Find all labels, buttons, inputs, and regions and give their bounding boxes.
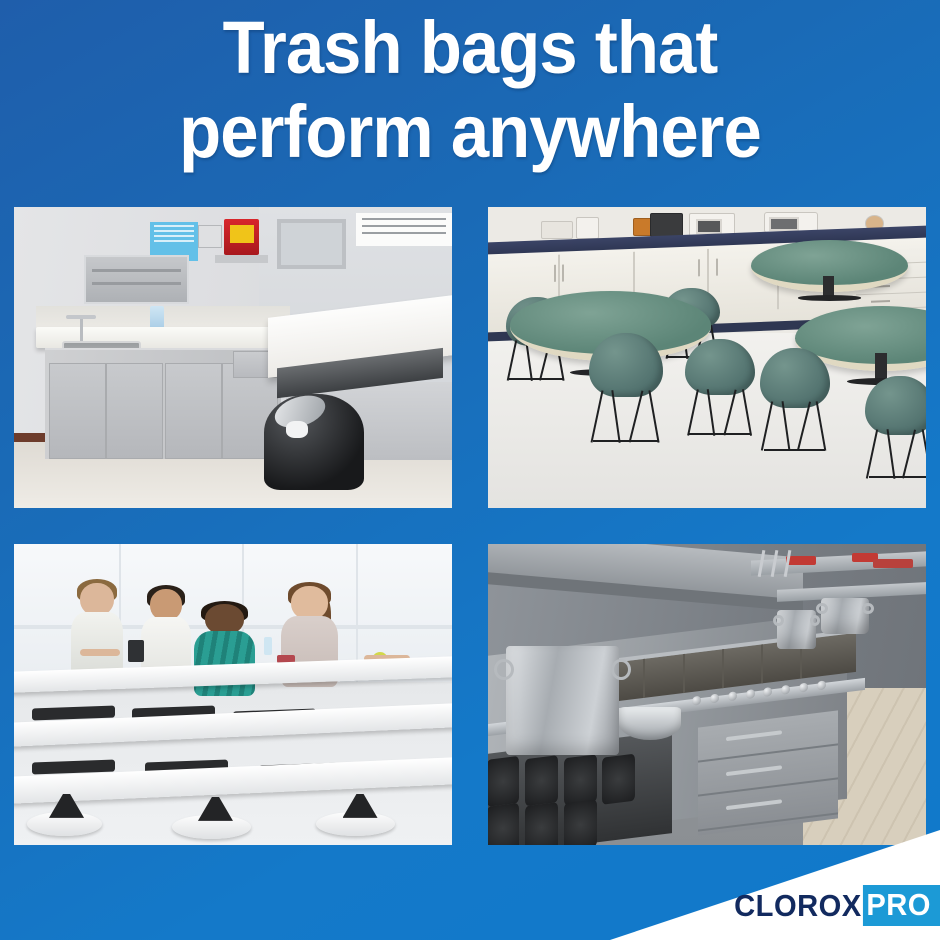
- trash-bag: [286, 421, 308, 438]
- chair-back: [865, 376, 926, 436]
- supply-box: [786, 556, 817, 565]
- chair: [685, 339, 755, 429]
- break-room-scene: [488, 207, 926, 508]
- arm: [80, 649, 120, 656]
- chair-legs: [689, 389, 751, 436]
- chair-legs: [593, 390, 659, 443]
- wall-dispenser-icon: [198, 225, 222, 248]
- notice-sheet: [356, 213, 452, 246]
- mixing-bowl: [619, 707, 680, 740]
- cafeteria-scene: [14, 544, 452, 845]
- cabinet-door: [106, 363, 162, 458]
- sharps-container-icon: [224, 219, 259, 255]
- stock-pot: [777, 610, 816, 649]
- chair: [760, 348, 830, 444]
- lunch-item: [264, 637, 272, 655]
- chair-legs: [764, 401, 826, 451]
- brewer-icon: [650, 213, 683, 237]
- logo-pro-badge: PRO: [862, 885, 940, 926]
- cabinet-door: [165, 363, 221, 458]
- photo-grid: [14, 207, 926, 845]
- stock-pot: [821, 598, 869, 634]
- cabinet-door: [49, 363, 105, 458]
- table-foot: [798, 295, 861, 300]
- head: [205, 604, 244, 635]
- oven-drawer-bank: [698, 710, 838, 836]
- chair: [865, 376, 926, 472]
- page-title: Trash bags that perform anywhere: [33, 6, 907, 174]
- student: [71, 583, 124, 679]
- supply-box: [873, 559, 912, 568]
- cloroxpro-logo: CLOROX PRO: [734, 885, 940, 926]
- headline-line-2: perform anywhere: [33, 90, 907, 174]
- sharps-tray: [215, 255, 268, 263]
- poster-canvas: Trash bags that perform anywhere: [0, 0, 940, 940]
- logo-clorox-text: CLOROX: [734, 888, 861, 924]
- chair: [589, 333, 663, 435]
- chair-back: [685, 339, 755, 395]
- chair-back: [589, 333, 663, 396]
- head: [150, 589, 182, 621]
- photo-commercial-kitchen: [488, 544, 926, 845]
- chair-legs: [869, 429, 926, 479]
- photo-clinic-exam-room: [14, 207, 452, 508]
- photo-office-break-room: [488, 207, 926, 508]
- trash-can: [264, 394, 365, 490]
- head: [80, 583, 114, 616]
- mirror: [277, 219, 346, 269]
- photo-school-cafeteria: [14, 544, 452, 845]
- lunch-item: [128, 640, 144, 662]
- round-table: [751, 240, 909, 300]
- stock-pot: [506, 646, 620, 754]
- paper-towel-dispenser-icon: [84, 255, 189, 304]
- headline-line-1: Trash bags that: [33, 6, 907, 90]
- kitchen-scene: [488, 544, 926, 845]
- head: [291, 586, 327, 620]
- chair-back: [760, 348, 830, 408]
- coffee-maker-icon: [576, 217, 600, 239]
- toaster-icon: [541, 221, 574, 240]
- faucet-icon: [80, 318, 83, 342]
- clinic-scene: [14, 207, 452, 508]
